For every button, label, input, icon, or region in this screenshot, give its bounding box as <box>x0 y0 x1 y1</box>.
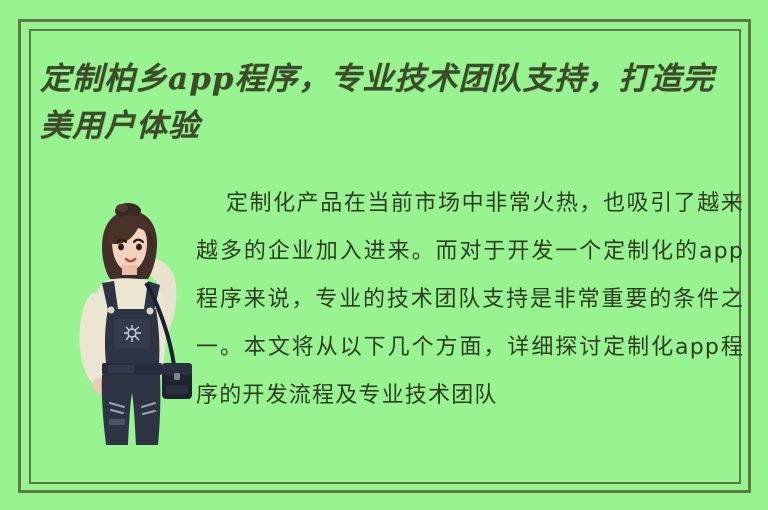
article-body-text: 定制化产品在当前市场中非常火热，也吸引了越来越多的企业加入进来。而对于开发一个定… <box>196 180 744 420</box>
hero-photo <box>62 197 202 445</box>
promo-banner: 定制柏乡app程序，专业技术团队支持，打造完美用户体验 <box>0 0 768 510</box>
woman-illustration-icon <box>62 197 202 445</box>
page-title: 定制柏乡app程序，专业技术团队支持，打造完美用户体验 <box>40 56 740 150</box>
